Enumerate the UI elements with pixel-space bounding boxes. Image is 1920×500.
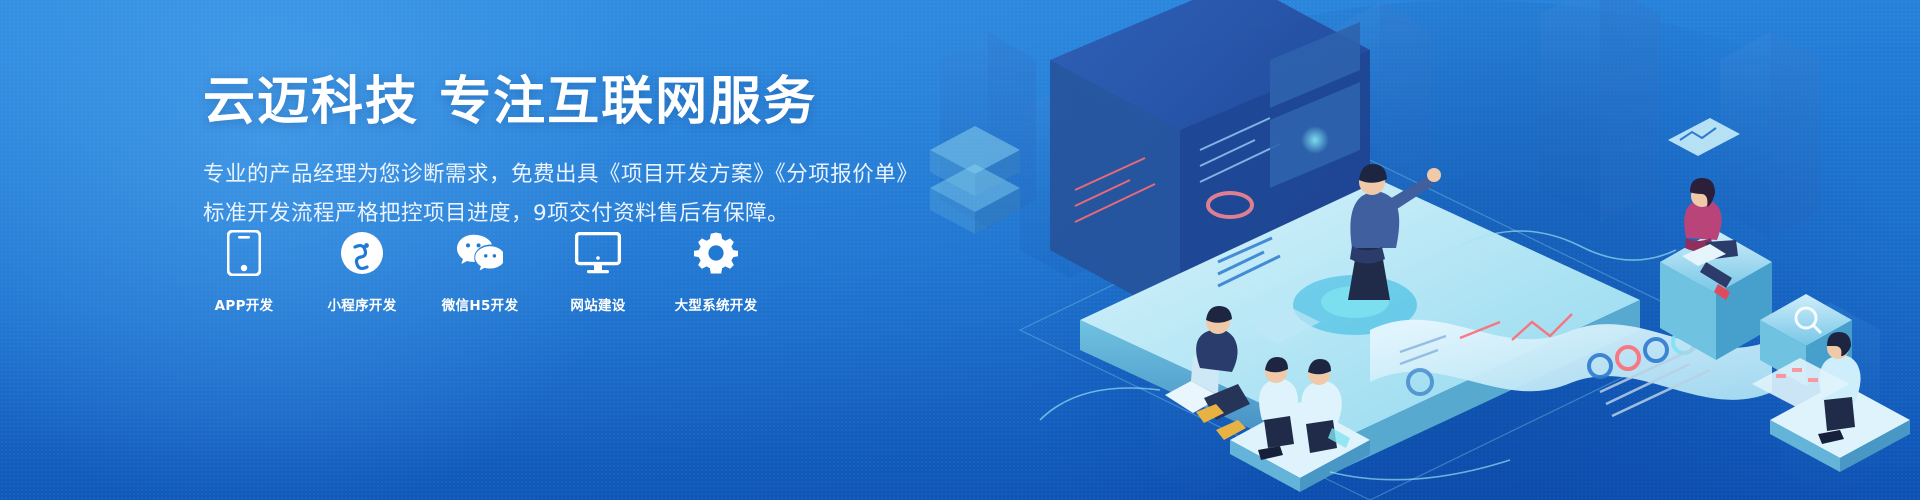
service-label: 网站建设 [570,294,625,314]
tablet-platform [1080,180,1640,470]
dashboard-screen [1050,0,1370,320]
person-on-tablet [1770,332,1910,472]
data-chart-ribbon [1370,314,1772,416]
two-people-talking [1230,357,1370,492]
bottom-right-shade [920,0,1920,500]
service-label: 微信H5开发 [442,294,519,314]
desktop-monitor-icon [575,230,621,276]
service-label: APP开发 [215,294,274,314]
service-label: 小程序开发 [328,294,397,314]
service-item-website[interactable]: 网站建设 [559,230,637,314]
standing-person-pointing [1348,164,1441,300]
banner-subtitle: 专业的产品经理为您诊断需求，免费出具《项目开发方案》《分项报价单》 标准开发流程… [203,157,903,233]
subtitle-line-2: 标准开发流程严格把控项目进度，9项交付资料售后有保障。 [203,196,903,233]
service-item-wechat-h5[interactable]: 微信H5开发 [441,230,519,314]
service-label: 大型系统开发 [675,294,758,314]
mini-program-icon [339,230,385,276]
service-list: APP开发 小程序开发 [205,230,755,314]
woman-on-cube-laptop [1660,178,1772,360]
service-item-miniprogram[interactable]: 小程序开发 [323,230,401,314]
service-item-app[interactable]: APP开发 [205,230,283,314]
banner-copy: 云迈科技 专注互联网服务 专业的产品经理为您诊断需求，免费出具《项目开发方案》《… [203,72,903,235]
service-item-large-system[interactable]: 大型系统开发 [677,230,755,314]
subtitle-line-1: 专业的产品经理为您诊断需求，免费出具《项目开发方案》《分项报价单》 [203,157,903,194]
ground-grid [1020,160,1720,500]
page-title: 云迈科技 专注互联网服务 [203,72,903,133]
floating-mini-cards [1250,118,1850,410]
isometric-technology-teamwork-illustration [900,0,1920,500]
promo-banner: 云迈科技 专注互联网服务 专业的产品经理为您诊断需求，免费出具《项目开发方案》《… [0,0,1920,500]
seated-person-laptop [1165,238,1280,440]
connector-lines [1040,231,1676,480]
city-buildings-backdrop [940,0,1880,498]
search-cube [1760,294,1852,386]
server-stack [930,126,1020,234]
wechat-bubbles-icon [457,230,503,276]
mobile-phone-icon [221,230,267,276]
gear-icon [693,230,739,276]
